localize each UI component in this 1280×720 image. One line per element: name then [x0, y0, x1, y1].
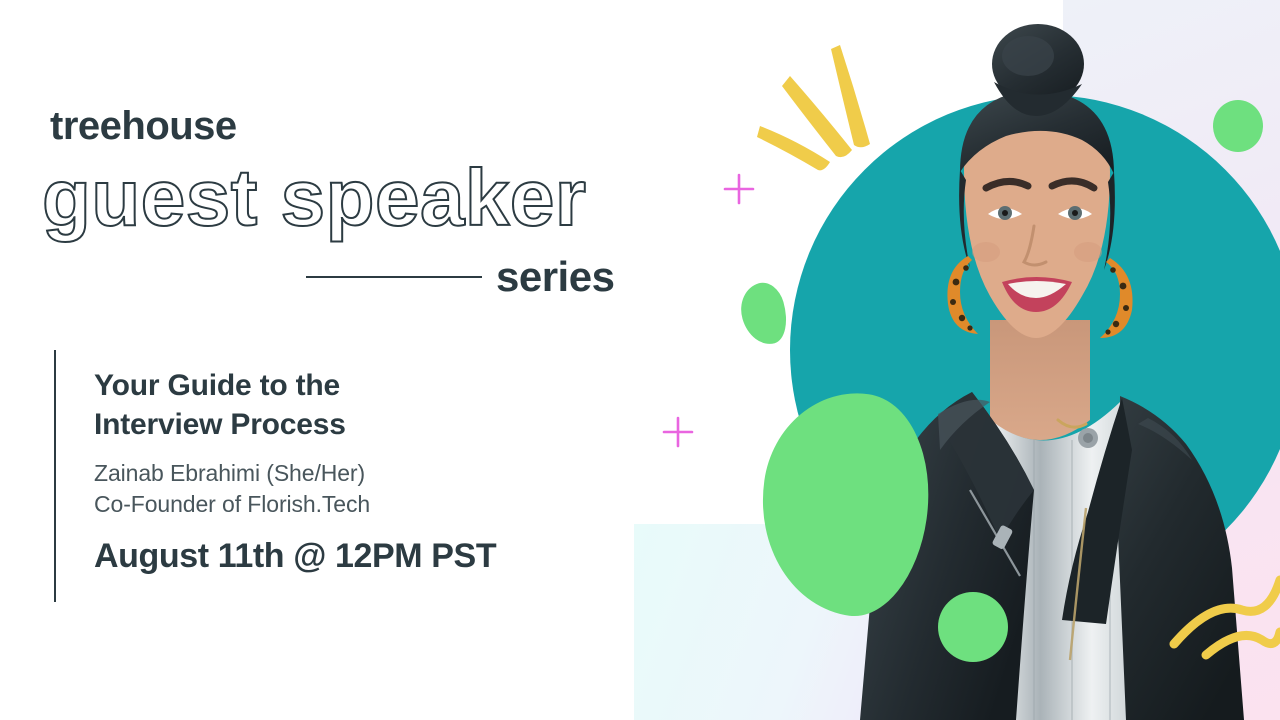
green-blob-small — [734, 278, 793, 350]
session-info-block: Your Guide to the Interview Process Zain… — [54, 350, 614, 602]
magenta-plus-lower — [664, 418, 692, 446]
session-title-line1: Your Guide to the — [94, 369, 340, 402]
promo-banner: treehouse guest speaker series Your Guid… — [0, 0, 1280, 720]
session-title-line2: Interview Process — [94, 408, 346, 441]
session-title: Your Guide to the Interview Process — [94, 366, 614, 444]
series-divider-rule — [306, 276, 482, 278]
green-circle-topright — [1213, 100, 1263, 152]
earring-left — [947, 256, 978, 334]
headline-guest-speaker: guest speaker — [42, 158, 587, 238]
speaker-portrait-photo — [820, 20, 1260, 720]
speaker-name: Zainab Ebrahimi (She/Her) — [94, 458, 614, 489]
green-circle-shape — [938, 592, 1008, 662]
series-row: series — [306, 256, 626, 298]
earring-right — [1100, 258, 1133, 338]
speaker-role: Co-Founder of Florish.Tech — [94, 489, 614, 520]
magenta-plus-upper — [725, 175, 753, 203]
brand-wordmark: treehouse — [50, 106, 237, 146]
series-label: series — [496, 256, 614, 298]
session-datetime: August 11th @ 12PM PST — [94, 538, 614, 575]
